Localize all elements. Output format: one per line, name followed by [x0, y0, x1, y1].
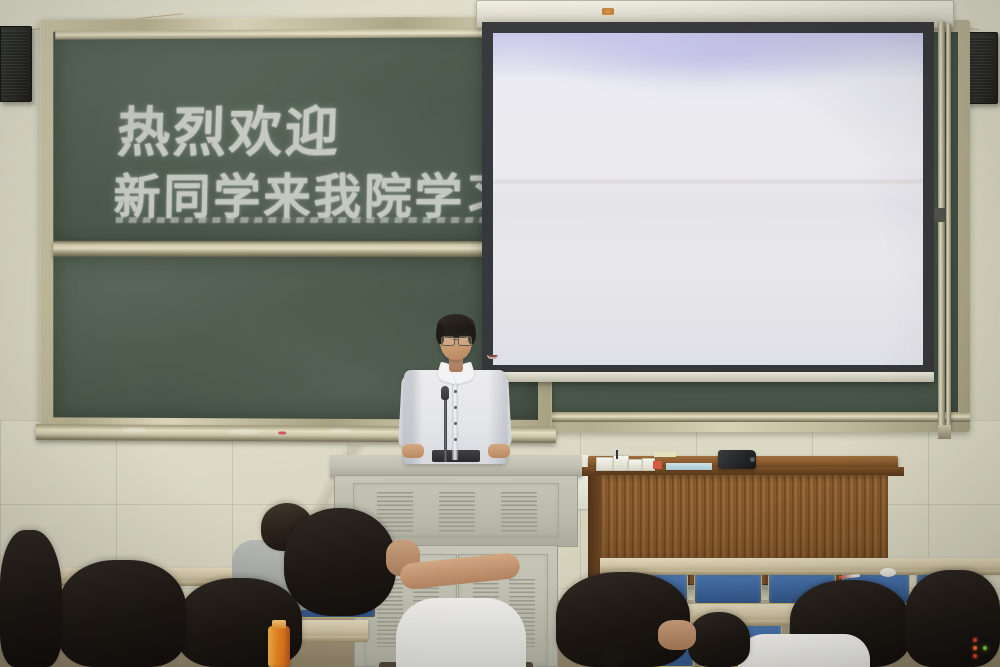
student-hand	[658, 620, 696, 650]
eyeglasses-bridge	[453, 339, 458, 340]
vent-louvers	[439, 492, 475, 534]
projector-glow	[527, 33, 888, 93]
shirt-button	[454, 390, 457, 393]
led-orange-icon	[973, 646, 977, 650]
classroom-photo: 热烈欢迎 新同学来我院学习深造	[0, 0, 1000, 667]
vent-louvers	[501, 492, 537, 534]
led-green-icon	[983, 646, 987, 650]
screen-rail-clip	[934, 208, 946, 222]
shirt-button	[454, 422, 457, 425]
hand-left	[402, 444, 424, 458]
eyeglasses-lens-left-icon	[441, 336, 455, 346]
shirt-button	[454, 438, 457, 441]
wall-speaker-right-icon	[966, 32, 998, 104]
microphone-icon[interactable]	[441, 386, 449, 400]
bag-buckle-icon	[750, 457, 755, 462]
microphone-stem[interactable]	[444, 392, 447, 462]
pen-on-desk[interactable]	[616, 450, 618, 459]
student-head	[688, 612, 750, 667]
projection-surface	[493, 33, 923, 365]
chalk-box[interactable]	[596, 457, 614, 471]
white-object-on-desk[interactable]	[880, 568, 896, 577]
led-red-icon	[973, 638, 977, 642]
chalk-box[interactable]	[628, 459, 643, 471]
speaker-grille	[970, 37, 994, 99]
student-head	[58, 560, 186, 667]
red-chalk-box[interactable]	[653, 461, 662, 469]
screen-rail-foot	[938, 425, 951, 439]
chalk-dust	[330, 429, 352, 433]
screen-weight-bar[interactable]	[482, 372, 934, 382]
orange-juice-bottle[interactable]	[268, 626, 290, 667]
chalk-text-line1: 热烈欢迎	[116, 88, 343, 167]
chalk-dust	[121, 428, 146, 433]
led-red2-icon	[973, 654, 977, 658]
chalkboard-rail	[500, 412, 970, 422]
chalk-underline	[116, 217, 510, 223]
screen-rail-right	[946, 24, 951, 432]
blue-papers[interactable]	[666, 463, 712, 470]
chalkboard-middle-rail[interactable]	[53, 241, 538, 258]
speaker-grille	[1, 31, 28, 97]
student-shirt-white	[396, 598, 526, 667]
projector-screen[interactable]	[482, 22, 934, 376]
shirt-button	[454, 406, 457, 409]
smiling-mouth	[487, 355, 498, 359]
chalkboard-panel-top: 热烈欢迎 新同学来我院学习深造	[53, 29, 538, 243]
student-head	[0, 530, 62, 667]
red-chalk-stub	[278, 431, 286, 434]
wall-speaker-left-icon	[0, 26, 32, 102]
presenter	[404, 312, 506, 464]
chair[interactable]	[694, 570, 762, 604]
screen-rail-left	[938, 22, 945, 432]
brand-logo-icon	[602, 8, 614, 15]
chalk-dust	[227, 429, 260, 434]
screen-crease	[493, 179, 923, 187]
hand-right	[488, 444, 510, 458]
camera-status-leds	[972, 638, 988, 660]
bottle-cap[interactable]	[272, 620, 286, 629]
student-ponytail	[600, 650, 624, 667]
student-shirt-white	[738, 634, 870, 667]
eyeglasses-lens-right-icon	[458, 336, 472, 346]
notebook-on-desk[interactable]	[654, 452, 676, 457]
student-head	[284, 508, 396, 616]
